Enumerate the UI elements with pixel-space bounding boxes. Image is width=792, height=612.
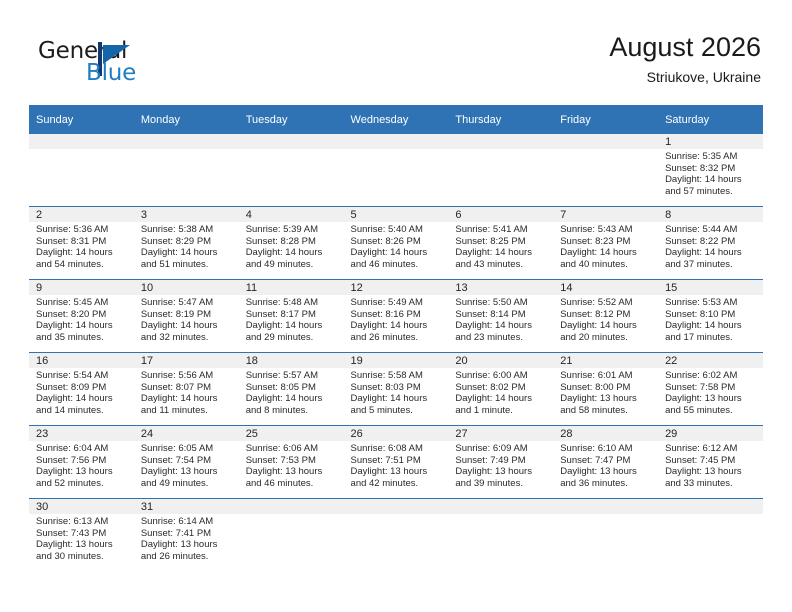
calendar-day-cell[interactable]: 1Sunrise: 5:35 AMSunset: 8:32 PMDaylight…	[658, 134, 763, 207]
day-number	[658, 499, 763, 514]
day-sun-info: Sunrise: 6:14 AMSunset: 7:41 PMDaylight:…	[134, 514, 239, 562]
sunset-text: Sunset: 8:09 PM	[36, 382, 129, 394]
sunrise-text: Sunrise: 5:52 AM	[560, 297, 653, 309]
calendar-week-row: 9Sunrise: 5:45 AMSunset: 8:20 PMDaylight…	[29, 280, 763, 353]
sunset-text: Sunset: 7:49 PM	[455, 455, 548, 467]
day-number: 15	[658, 280, 763, 295]
sunset-text: Sunset: 8:17 PM	[246, 309, 339, 321]
day-sun-info: Sunrise: 5:53 AMSunset: 8:10 PMDaylight:…	[658, 295, 763, 343]
daylight-text: Daylight: 14 hours and 14 minutes.	[36, 393, 129, 416]
sunrise-text: Sunrise: 6:00 AM	[455, 370, 548, 382]
day-sun-info: Sunrise: 5:43 AMSunset: 8:23 PMDaylight:…	[553, 222, 658, 270]
calendar-day-cell[interactable]: 24Sunrise: 6:05 AMSunset: 7:54 PMDayligh…	[134, 426, 239, 499]
daylight-text: Daylight: 13 hours and 36 minutes.	[560, 466, 653, 489]
day-number: 18	[239, 353, 344, 368]
page-header: General Blue August 2026 Striukove, Ukra…	[0, 0, 792, 100]
day-sun-info: Sunrise: 5:54 AMSunset: 8:09 PMDaylight:…	[29, 368, 134, 416]
day-sun-info: Sunrise: 6:10 AMSunset: 7:47 PMDaylight:…	[553, 441, 658, 489]
day-sun-info: Sunrise: 6:06 AMSunset: 7:53 PMDaylight:…	[239, 441, 344, 489]
daylight-text: Daylight: 13 hours and 52 minutes.	[36, 466, 129, 489]
calendar-cell-inner	[344, 499, 449, 571]
calendar-cell-inner	[658, 499, 763, 571]
calendar-cell-empty	[344, 134, 449, 207]
calendar-cell-empty	[239, 134, 344, 207]
calendar-cell-inner: 28Sunrise: 6:10 AMSunset: 7:47 PMDayligh…	[553, 426, 658, 498]
calendar-table: Sunday Monday Tuesday Wednesday Thursday…	[29, 105, 763, 571]
daylight-text: Daylight: 14 hours and 37 minutes.	[665, 247, 758, 270]
day-number	[29, 134, 134, 149]
daylight-text: Daylight: 14 hours and 20 minutes.	[560, 320, 653, 343]
calendar-day-cell[interactable]: 30Sunrise: 6:13 AMSunset: 7:43 PMDayligh…	[29, 499, 134, 572]
day-sun-info: Sunrise: 5:52 AMSunset: 8:12 PMDaylight:…	[553, 295, 658, 343]
calendar-day-cell[interactable]: 6Sunrise: 5:41 AMSunset: 8:25 PMDaylight…	[448, 207, 553, 280]
calendar-cell-inner	[239, 134, 344, 206]
sunrise-text: Sunrise: 5:36 AM	[36, 224, 129, 236]
day-number: 26	[344, 426, 449, 441]
calendar-week-row: 2Sunrise: 5:36 AMSunset: 8:31 PMDaylight…	[29, 207, 763, 280]
sunset-text: Sunset: 8:05 PM	[246, 382, 339, 394]
day-sun-info: Sunrise: 5:45 AMSunset: 8:20 PMDaylight:…	[29, 295, 134, 343]
daylight-text: Daylight: 14 hours and 23 minutes.	[455, 320, 548, 343]
day-number: 17	[134, 353, 239, 368]
calendar-cell-inner: 19Sunrise: 5:58 AMSunset: 8:03 PMDayligh…	[344, 353, 449, 425]
page-subtitle: Striukove, Ukraine	[609, 67, 761, 87]
sunrise-text: Sunrise: 6:06 AM	[246, 443, 339, 455]
calendar-cell-inner: 1Sunrise: 5:35 AMSunset: 8:32 PMDaylight…	[658, 134, 763, 206]
daylight-text: Daylight: 14 hours and 5 minutes.	[351, 393, 444, 416]
day-sun-info: Sunrise: 6:01 AMSunset: 8:00 PMDaylight:…	[553, 368, 658, 416]
day-number	[344, 499, 449, 514]
sunset-text: Sunset: 8:03 PM	[351, 382, 444, 394]
calendar-cell-inner	[448, 499, 553, 571]
calendar-day-cell[interactable]: 16Sunrise: 5:54 AMSunset: 8:09 PMDayligh…	[29, 353, 134, 426]
calendar-cell-inner: 7Sunrise: 5:43 AMSunset: 8:23 PMDaylight…	[553, 207, 658, 279]
calendar-day-cell[interactable]: 31Sunrise: 6:14 AMSunset: 7:41 PMDayligh…	[134, 499, 239, 572]
day-sun-info: Sunrise: 6:13 AMSunset: 7:43 PMDaylight:…	[29, 514, 134, 562]
calendar-week-row: 30Sunrise: 6:13 AMSunset: 7:43 PMDayligh…	[29, 499, 763, 572]
calendar-day-cell[interactable]: 28Sunrise: 6:10 AMSunset: 7:47 PMDayligh…	[553, 426, 658, 499]
day-number	[448, 134, 553, 149]
sunrise-text: Sunrise: 5:38 AM	[141, 224, 234, 236]
weekday-header-monday: Monday	[134, 105, 239, 134]
calendar-day-cell[interactable]: 23Sunrise: 6:04 AMSunset: 7:56 PMDayligh…	[29, 426, 134, 499]
calendar-week-row: 1Sunrise: 5:35 AMSunset: 8:32 PMDaylight…	[29, 134, 763, 207]
day-number: 3	[134, 207, 239, 222]
calendar-header-row: Sunday Monday Tuesday Wednesday Thursday…	[29, 105, 763, 134]
calendar-page: General Blue August 2026 Striukove, Ukra…	[0, 0, 792, 612]
calendar-cell-inner: 11Sunrise: 5:48 AMSunset: 8:17 PMDayligh…	[239, 280, 344, 352]
sunset-text: Sunset: 8:31 PM	[36, 236, 129, 248]
day-number: 24	[134, 426, 239, 441]
calendar-cell-inner: 5Sunrise: 5:40 AMSunset: 8:26 PMDaylight…	[344, 207, 449, 279]
day-sun-info: Sunrise: 5:41 AMSunset: 8:25 PMDaylight:…	[448, 222, 553, 270]
sunset-text: Sunset: 7:53 PM	[246, 455, 339, 467]
daylight-text: Daylight: 14 hours and 32 minutes.	[141, 320, 234, 343]
sunrise-text: Sunrise: 5:39 AM	[246, 224, 339, 236]
day-sun-info: Sunrise: 6:09 AMSunset: 7:49 PMDaylight:…	[448, 441, 553, 489]
day-sun-info: Sunrise: 5:39 AMSunset: 8:28 PMDaylight:…	[239, 222, 344, 270]
sunset-text: Sunset: 8:32 PM	[665, 163, 758, 175]
sunrise-text: Sunrise: 5:40 AM	[351, 224, 444, 236]
day-number: 2	[29, 207, 134, 222]
day-number: 28	[553, 426, 658, 441]
weekday-header-tuesday: Tuesday	[239, 105, 344, 134]
calendar-cell-inner: 10Sunrise: 5:47 AMSunset: 8:19 PMDayligh…	[134, 280, 239, 352]
day-number: 30	[29, 499, 134, 514]
daylight-text: Daylight: 14 hours and 46 minutes.	[351, 247, 444, 270]
calendar-day-cell[interactable]: 15Sunrise: 5:53 AMSunset: 8:10 PMDayligh…	[658, 280, 763, 353]
calendar-cell-inner: 2Sunrise: 5:36 AMSunset: 8:31 PMDaylight…	[29, 207, 134, 279]
sunrise-text: Sunrise: 6:08 AM	[351, 443, 444, 455]
calendar-day-cell[interactable]: 14Sunrise: 5:52 AMSunset: 8:12 PMDayligh…	[553, 280, 658, 353]
calendar-day-cell[interactable]: 10Sunrise: 5:47 AMSunset: 8:19 PMDayligh…	[134, 280, 239, 353]
day-sun-info: Sunrise: 6:12 AMSunset: 7:45 PMDaylight:…	[658, 441, 763, 489]
daylight-text: Daylight: 14 hours and 29 minutes.	[246, 320, 339, 343]
sunrise-text: Sunrise: 6:05 AM	[141, 443, 234, 455]
calendar-cell-empty	[553, 134, 658, 207]
weekday-header-wednesday: Wednesday	[344, 105, 449, 134]
daylight-text: Daylight: 14 hours and 57 minutes.	[665, 174, 758, 197]
day-number: 8	[658, 207, 763, 222]
day-number: 6	[448, 207, 553, 222]
sunrise-text: Sunrise: 5:54 AM	[36, 370, 129, 382]
calendar-day-cell[interactable]: 25Sunrise: 6:06 AMSunset: 7:53 PMDayligh…	[239, 426, 344, 499]
calendar-cell-empty	[448, 499, 553, 572]
day-sun-info: Sunrise: 5:40 AMSunset: 8:26 PMDaylight:…	[344, 222, 449, 270]
day-number: 4	[239, 207, 344, 222]
sunset-text: Sunset: 8:19 PM	[141, 309, 234, 321]
calendar-body: 1Sunrise: 5:35 AMSunset: 8:32 PMDaylight…	[29, 134, 763, 571]
day-sun-info: Sunrise: 6:00 AMSunset: 8:02 PMDaylight:…	[448, 368, 553, 416]
daylight-text: Daylight: 13 hours and 49 minutes.	[141, 466, 234, 489]
sunrise-text: Sunrise: 6:04 AM	[36, 443, 129, 455]
calendar-cell-inner: 25Sunrise: 6:06 AMSunset: 7:53 PMDayligh…	[239, 426, 344, 498]
calendar-day-cell[interactable]: 17Sunrise: 5:56 AMSunset: 8:07 PMDayligh…	[134, 353, 239, 426]
calendar-cell-inner: 4Sunrise: 5:39 AMSunset: 8:28 PMDaylight…	[239, 207, 344, 279]
calendar-day-cell[interactable]: 4Sunrise: 5:39 AMSunset: 8:28 PMDaylight…	[239, 207, 344, 280]
day-number: 11	[239, 280, 344, 295]
sunset-text: Sunset: 8:25 PM	[455, 236, 548, 248]
day-number: 31	[134, 499, 239, 514]
brand-logo[interactable]: General Blue	[38, 38, 208, 90]
calendar-day-cell[interactable]: 12Sunrise: 5:49 AMSunset: 8:16 PMDayligh…	[344, 280, 449, 353]
daylight-text: Daylight: 14 hours and 54 minutes.	[36, 247, 129, 270]
day-sun-info: Sunrise: 6:05 AMSunset: 7:54 PMDaylight:…	[134, 441, 239, 489]
calendar-cell-inner: 22Sunrise: 6:02 AMSunset: 7:58 PMDayligh…	[658, 353, 763, 425]
sunset-text: Sunset: 7:54 PM	[141, 455, 234, 467]
sunrise-text: Sunrise: 6:10 AM	[560, 443, 653, 455]
calendar-cell-inner: 13Sunrise: 5:50 AMSunset: 8:14 PMDayligh…	[448, 280, 553, 352]
day-number: 22	[658, 353, 763, 368]
calendar-cell-inner	[553, 134, 658, 206]
calendar-cell-inner	[239, 499, 344, 571]
calendar-cell-empty	[134, 134, 239, 207]
sunset-text: Sunset: 8:28 PM	[246, 236, 339, 248]
day-number: 29	[658, 426, 763, 441]
day-number	[239, 499, 344, 514]
sunrise-text: Sunrise: 5:53 AM	[665, 297, 758, 309]
calendar-cell-inner: 23Sunrise: 6:04 AMSunset: 7:56 PMDayligh…	[29, 426, 134, 498]
daylight-text: Daylight: 13 hours and 33 minutes.	[665, 466, 758, 489]
calendar-container: Sunday Monday Tuesday Wednesday Thursday…	[29, 105, 763, 571]
calendar-day-cell[interactable]: 26Sunrise: 6:08 AMSunset: 7:51 PMDayligh…	[344, 426, 449, 499]
daylight-text: Daylight: 14 hours and 1 minute.	[455, 393, 548, 416]
daylight-text: Daylight: 13 hours and 58 minutes.	[560, 393, 653, 416]
sunrise-text: Sunrise: 6:13 AM	[36, 516, 129, 528]
calendar-cell-inner	[134, 134, 239, 206]
day-sun-info: Sunrise: 5:48 AMSunset: 8:17 PMDaylight:…	[239, 295, 344, 343]
sunset-text: Sunset: 7:43 PM	[36, 528, 129, 540]
sunrise-text: Sunrise: 5:35 AM	[665, 151, 758, 163]
daylight-text: Daylight: 13 hours and 26 minutes.	[141, 539, 234, 562]
sunset-text: Sunset: 7:51 PM	[351, 455, 444, 467]
daylight-text: Daylight: 13 hours and 46 minutes.	[246, 466, 339, 489]
sunrise-text: Sunrise: 6:12 AM	[665, 443, 758, 455]
day-sun-info: Sunrise: 6:08 AMSunset: 7:51 PMDaylight:…	[344, 441, 449, 489]
daylight-text: Daylight: 14 hours and 26 minutes.	[351, 320, 444, 343]
day-number: 21	[553, 353, 658, 368]
day-number	[239, 134, 344, 149]
day-sun-info: Sunrise: 5:57 AMSunset: 8:05 PMDaylight:…	[239, 368, 344, 416]
calendar-day-cell[interactable]: 19Sunrise: 5:58 AMSunset: 8:03 PMDayligh…	[344, 353, 449, 426]
day-number	[553, 499, 658, 514]
daylight-text: Daylight: 14 hours and 11 minutes.	[141, 393, 234, 416]
day-sun-info: Sunrise: 6:02 AMSunset: 7:58 PMDaylight:…	[658, 368, 763, 416]
calendar-cell-inner: 14Sunrise: 5:52 AMSunset: 8:12 PMDayligh…	[553, 280, 658, 352]
sunrise-text: Sunrise: 5:58 AM	[351, 370, 444, 382]
calendar-cell-inner: 27Sunrise: 6:09 AMSunset: 7:49 PMDayligh…	[448, 426, 553, 498]
sunrise-text: Sunrise: 6:14 AM	[141, 516, 234, 528]
day-number: 27	[448, 426, 553, 441]
daylight-text: Daylight: 14 hours and 43 minutes.	[455, 247, 548, 270]
sunrise-text: Sunrise: 5:50 AM	[455, 297, 548, 309]
sunset-text: Sunset: 7:45 PM	[665, 455, 758, 467]
calendar-cell-empty	[658, 499, 763, 572]
calendar-day-cell[interactable]: 11Sunrise: 5:48 AMSunset: 8:17 PMDayligh…	[239, 280, 344, 353]
title-block: August 2026 Striukove, Ukraine	[609, 30, 761, 87]
sunset-text: Sunset: 7:41 PM	[141, 528, 234, 540]
day-number: 16	[29, 353, 134, 368]
daylight-text: Daylight: 13 hours and 55 minutes.	[665, 393, 758, 416]
calendar-day-cell[interactable]: 9Sunrise: 5:45 AMSunset: 8:20 PMDaylight…	[29, 280, 134, 353]
calendar-day-cell[interactable]: 20Sunrise: 6:00 AMSunset: 8:02 PMDayligh…	[448, 353, 553, 426]
daylight-text: Daylight: 14 hours and 35 minutes.	[36, 320, 129, 343]
calendar-cell-inner: 6Sunrise: 5:41 AMSunset: 8:25 PMDaylight…	[448, 207, 553, 279]
day-sun-info: Sunrise: 5:35 AMSunset: 8:32 PMDaylight:…	[658, 149, 763, 197]
sunset-text: Sunset: 7:47 PM	[560, 455, 653, 467]
sunset-text: Sunset: 8:00 PM	[560, 382, 653, 394]
calendar-cell-empty	[344, 499, 449, 572]
calendar-cell-empty	[29, 134, 134, 207]
day-sun-info: Sunrise: 5:38 AMSunset: 8:29 PMDaylight:…	[134, 222, 239, 270]
day-number: 23	[29, 426, 134, 441]
sunset-text: Sunset: 7:56 PM	[36, 455, 129, 467]
sunrise-text: Sunrise: 5:49 AM	[351, 297, 444, 309]
calendar-day-cell[interactable]: 18Sunrise: 5:57 AMSunset: 8:05 PMDayligh…	[239, 353, 344, 426]
calendar-cell-empty	[448, 134, 553, 207]
day-number: 14	[553, 280, 658, 295]
day-sun-info: Sunrise: 5:44 AMSunset: 8:22 PMDaylight:…	[658, 222, 763, 270]
sunrise-text: Sunrise: 6:01 AM	[560, 370, 653, 382]
calendar-cell-inner: 20Sunrise: 6:00 AMSunset: 8:02 PMDayligh…	[448, 353, 553, 425]
day-sun-info: Sunrise: 5:56 AMSunset: 8:07 PMDaylight:…	[134, 368, 239, 416]
weekday-header-thursday: Thursday	[448, 105, 553, 134]
sunrise-text: Sunrise: 6:09 AM	[455, 443, 548, 455]
sunset-text: Sunset: 8:07 PM	[141, 382, 234, 394]
sunset-text: Sunset: 8:23 PM	[560, 236, 653, 248]
day-number	[344, 134, 449, 149]
day-sun-info: Sunrise: 5:47 AMSunset: 8:19 PMDaylight:…	[134, 295, 239, 343]
sunrise-text: Sunrise: 5:43 AM	[560, 224, 653, 236]
sunrise-text: Sunrise: 5:45 AM	[36, 297, 129, 309]
day-sun-info: Sunrise: 5:58 AMSunset: 8:03 PMDaylight:…	[344, 368, 449, 416]
calendar-cell-empty	[239, 499, 344, 572]
daylight-text: Daylight: 13 hours and 42 minutes.	[351, 466, 444, 489]
day-number: 7	[553, 207, 658, 222]
day-number: 9	[29, 280, 134, 295]
sunset-text: Sunset: 8:02 PM	[455, 382, 548, 394]
calendar-cell-inner: 30Sunrise: 6:13 AMSunset: 7:43 PMDayligh…	[29, 499, 134, 571]
day-number: 19	[344, 353, 449, 368]
weekday-header-saturday: Saturday	[658, 105, 763, 134]
calendar-cell-inner	[553, 499, 658, 571]
calendar-day-cell[interactable]: 22Sunrise: 6:02 AMSunset: 7:58 PMDayligh…	[658, 353, 763, 426]
day-number: 12	[344, 280, 449, 295]
daylight-text: Daylight: 14 hours and 49 minutes.	[246, 247, 339, 270]
sunrise-text: Sunrise: 5:56 AM	[141, 370, 234, 382]
day-number: 20	[448, 353, 553, 368]
daylight-text: Daylight: 14 hours and 8 minutes.	[246, 393, 339, 416]
calendar-day-cell[interactable]: 13Sunrise: 5:50 AMSunset: 8:14 PMDayligh…	[448, 280, 553, 353]
calendar-week-row: 16Sunrise: 5:54 AMSunset: 8:09 PMDayligh…	[29, 353, 763, 426]
sunset-text: Sunset: 8:12 PM	[560, 309, 653, 321]
calendar-week-row: 23Sunrise: 6:04 AMSunset: 7:56 PMDayligh…	[29, 426, 763, 499]
calendar-cell-inner: 12Sunrise: 5:49 AMSunset: 8:16 PMDayligh…	[344, 280, 449, 352]
brand-name-blue: Blue	[86, 60, 136, 86]
calendar-cell-inner: 8Sunrise: 5:44 AMSunset: 8:22 PMDaylight…	[658, 207, 763, 279]
calendar-day-cell[interactable]: 27Sunrise: 6:09 AMSunset: 7:49 PMDayligh…	[448, 426, 553, 499]
sunset-text: Sunset: 7:58 PM	[665, 382, 758, 394]
calendar-cell-inner: 31Sunrise: 6:14 AMSunset: 7:41 PMDayligh…	[134, 499, 239, 571]
day-number	[134, 134, 239, 149]
calendar-cell-inner: 24Sunrise: 6:05 AMSunset: 7:54 PMDayligh…	[134, 426, 239, 498]
calendar-day-cell[interactable]: 8Sunrise: 5:44 AMSunset: 8:22 PMDaylight…	[658, 207, 763, 280]
calendar-day-cell[interactable]: 2Sunrise: 5:36 AMSunset: 8:31 PMDaylight…	[29, 207, 134, 280]
sunrise-text: Sunrise: 5:44 AM	[665, 224, 758, 236]
sunrise-text: Sunrise: 5:41 AM	[455, 224, 548, 236]
calendar-day-cell[interactable]: 29Sunrise: 6:12 AMSunset: 7:45 PMDayligh…	[658, 426, 763, 499]
day-number: 13	[448, 280, 553, 295]
daylight-text: Daylight: 14 hours and 40 minutes.	[560, 247, 653, 270]
calendar-cell-inner: 17Sunrise: 5:56 AMSunset: 8:07 PMDayligh…	[134, 353, 239, 425]
weekday-header-friday: Friday	[553, 105, 658, 134]
daylight-text: Daylight: 14 hours and 51 minutes.	[141, 247, 234, 270]
calendar-day-cell[interactable]: 5Sunrise: 5:40 AMSunset: 8:26 PMDaylight…	[344, 207, 449, 280]
calendar-cell-inner: 15Sunrise: 5:53 AMSunset: 8:10 PMDayligh…	[658, 280, 763, 352]
calendar-day-cell[interactable]: 3Sunrise: 5:38 AMSunset: 8:29 PMDaylight…	[134, 207, 239, 280]
calendar-day-cell[interactable]: 7Sunrise: 5:43 AMSunset: 8:23 PMDaylight…	[553, 207, 658, 280]
day-sun-info: Sunrise: 5:49 AMSunset: 8:16 PMDaylight:…	[344, 295, 449, 343]
calendar-cell-inner	[448, 134, 553, 206]
sunrise-text: Sunrise: 5:48 AM	[246, 297, 339, 309]
day-number: 25	[239, 426, 344, 441]
calendar-cell-inner: 18Sunrise: 5:57 AMSunset: 8:05 PMDayligh…	[239, 353, 344, 425]
weekday-header-sunday: Sunday	[29, 105, 134, 134]
day-number: 1	[658, 134, 763, 149]
daylight-text: Daylight: 13 hours and 30 minutes.	[36, 539, 129, 562]
sunset-text: Sunset: 8:22 PM	[665, 236, 758, 248]
sunrise-text: Sunrise: 6:02 AM	[665, 370, 758, 382]
day-number	[553, 134, 658, 149]
calendar-cell-inner: 16Sunrise: 5:54 AMSunset: 8:09 PMDayligh…	[29, 353, 134, 425]
day-number: 5	[344, 207, 449, 222]
sunset-text: Sunset: 8:10 PM	[665, 309, 758, 321]
calendar-cell-inner: 29Sunrise: 6:12 AMSunset: 7:45 PMDayligh…	[658, 426, 763, 498]
sunrise-text: Sunrise: 5:57 AM	[246, 370, 339, 382]
daylight-text: Daylight: 14 hours and 17 minutes.	[665, 320, 758, 343]
sunrise-text: Sunrise: 5:47 AM	[141, 297, 234, 309]
calendar-cell-inner: 21Sunrise: 6:01 AMSunset: 8:00 PMDayligh…	[553, 353, 658, 425]
calendar-cell-empty	[553, 499, 658, 572]
sunset-text: Sunset: 8:20 PM	[36, 309, 129, 321]
calendar-day-cell[interactable]: 21Sunrise: 6:01 AMSunset: 8:00 PMDayligh…	[553, 353, 658, 426]
page-title: August 2026	[609, 30, 761, 64]
sunset-text: Sunset: 8:14 PM	[455, 309, 548, 321]
day-number: 10	[134, 280, 239, 295]
calendar-cell-inner	[29, 134, 134, 206]
sunset-text: Sunset: 8:16 PM	[351, 309, 444, 321]
day-sun-info: Sunrise: 5:50 AMSunset: 8:14 PMDaylight:…	[448, 295, 553, 343]
day-number	[448, 499, 553, 514]
sunset-text: Sunset: 8:26 PM	[351, 236, 444, 248]
day-sun-info: Sunrise: 6:04 AMSunset: 7:56 PMDaylight:…	[29, 441, 134, 489]
calendar-cell-inner: 26Sunrise: 6:08 AMSunset: 7:51 PMDayligh…	[344, 426, 449, 498]
day-sun-info: Sunrise: 5:36 AMSunset: 8:31 PMDaylight:…	[29, 222, 134, 270]
calendar-cell-inner	[344, 134, 449, 206]
daylight-text: Daylight: 13 hours and 39 minutes.	[455, 466, 548, 489]
calendar-cell-inner: 9Sunrise: 5:45 AMSunset: 8:20 PMDaylight…	[29, 280, 134, 352]
sunset-text: Sunset: 8:29 PM	[141, 236, 234, 248]
calendar-cell-inner: 3Sunrise: 5:38 AMSunset: 8:29 PMDaylight…	[134, 207, 239, 279]
